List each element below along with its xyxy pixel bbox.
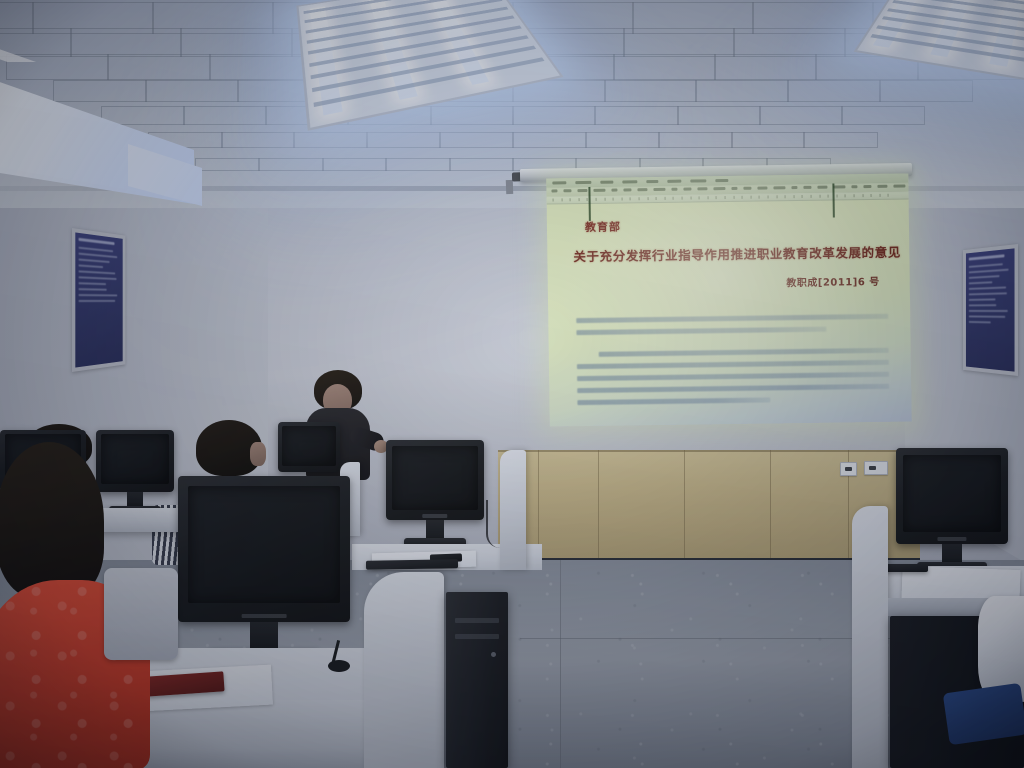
monitor-back-center (278, 422, 340, 472)
desk-divider-right (852, 506, 888, 768)
wall-outlet-right[interactable] (864, 461, 888, 475)
notice-text-line (969, 281, 992, 284)
notice-text-line (969, 304, 997, 306)
notice-board-left-text (75, 232, 122, 367)
ceiling-tile (293, 132, 368, 148)
monitor-foreground (178, 476, 350, 622)
ceiling-tile (195, 158, 260, 171)
ceiling-tile (221, 132, 296, 148)
ceiling-tile (439, 132, 514, 148)
ceiling-tile (623, 28, 736, 57)
monitor-middle (386, 440, 484, 520)
notice-text-line (79, 282, 106, 285)
ceiling-tile (430, 106, 514, 125)
student-dark-face-edge (250, 442, 266, 466)
notice-text-line (79, 276, 117, 280)
desk-divider-middle (500, 450, 526, 570)
ceiling-tile (322, 158, 387, 171)
ceiling-tile (512, 132, 587, 148)
ceiling-tile (0, 28, 72, 57)
chair-foreground (104, 568, 178, 660)
notice-text-line (79, 288, 108, 291)
notice-text-line (969, 263, 1003, 268)
ceiling-tile (53, 80, 147, 102)
pc-tower-foreground (446, 592, 508, 768)
monitor-logo (422, 514, 447, 518)
ceiling-tile (512, 106, 596, 125)
notice-text-line (79, 238, 115, 245)
notice-text-line (969, 269, 1008, 274)
ceiling-tile (714, 54, 817, 80)
notice-text-line (969, 310, 1008, 312)
ceiling-tile (385, 158, 450, 171)
notice-text-line (79, 259, 110, 263)
ceiling-tile (879, 80, 973, 102)
ceiling-tile (180, 28, 293, 57)
wall-outlet-left[interactable] (840, 462, 857, 476)
ceiling-tile (258, 158, 323, 171)
notice-text-line (969, 315, 1005, 317)
ceiling-tile (366, 132, 441, 148)
notice-text-line (969, 298, 996, 300)
notice-text-line (79, 294, 117, 296)
notice-text-line (79, 264, 103, 268)
notice-text-line (969, 292, 1007, 295)
monitor-logo-foreground (242, 614, 287, 618)
notice-text-line (969, 321, 991, 323)
ceiling-tile (107, 54, 210, 80)
ceiling-tile (759, 106, 843, 125)
chair-blue-right (943, 683, 1024, 745)
notice-text-line (969, 275, 1000, 279)
notice-board-right-text (966, 248, 1015, 371)
ceiling-tile (787, 80, 881, 102)
projector-glow (546, 173, 911, 426)
notice-board-left (72, 228, 125, 372)
ceiling-tile (70, 28, 183, 57)
ceiling-tile (209, 54, 312, 80)
ceiling-tile (731, 132, 806, 148)
monitor-logo-right (937, 537, 966, 541)
notice-board-right (963, 244, 1018, 376)
desk-microphone (328, 660, 350, 672)
ceiling-tile (803, 132, 878, 148)
ceiling-tile (449, 158, 514, 171)
notice-text-line (79, 300, 115, 302)
ceiling-tile (594, 106, 678, 125)
ceiling-tile (613, 54, 716, 80)
notice-text-line (969, 254, 1005, 260)
keyboard-middle (366, 559, 458, 570)
ceiling-tile (604, 80, 698, 102)
notice-text-line (969, 287, 1006, 290)
notice-text-line (79, 247, 113, 253)
ceiling-tile (733, 28, 846, 57)
monitor-right (896, 448, 1008, 544)
ceiling-tile (695, 80, 789, 102)
ceiling-tile (841, 106, 925, 125)
ceiling-tile (658, 132, 733, 148)
classroom-photo: 教育部 关于充分发挥行业指导作用推进职业教育改革发展的意见 教职成[2011]6… (0, 0, 1024, 768)
projection-screen: 教育部 关于充分发挥行业指导作用推进职业教育改革发展的意见 教职成[2011]6… (546, 173, 911, 426)
student-orange-hair (0, 442, 104, 598)
screen-mount-post (506, 180, 513, 194)
desk-divider-foreground (364, 572, 444, 768)
ceiling-tile (183, 106, 267, 125)
ceiling-tile (145, 80, 239, 102)
ceiling-tile (585, 132, 660, 148)
ceiling-tile (677, 106, 761, 125)
notice-text-line (79, 270, 116, 274)
notice-text-line (79, 253, 118, 259)
